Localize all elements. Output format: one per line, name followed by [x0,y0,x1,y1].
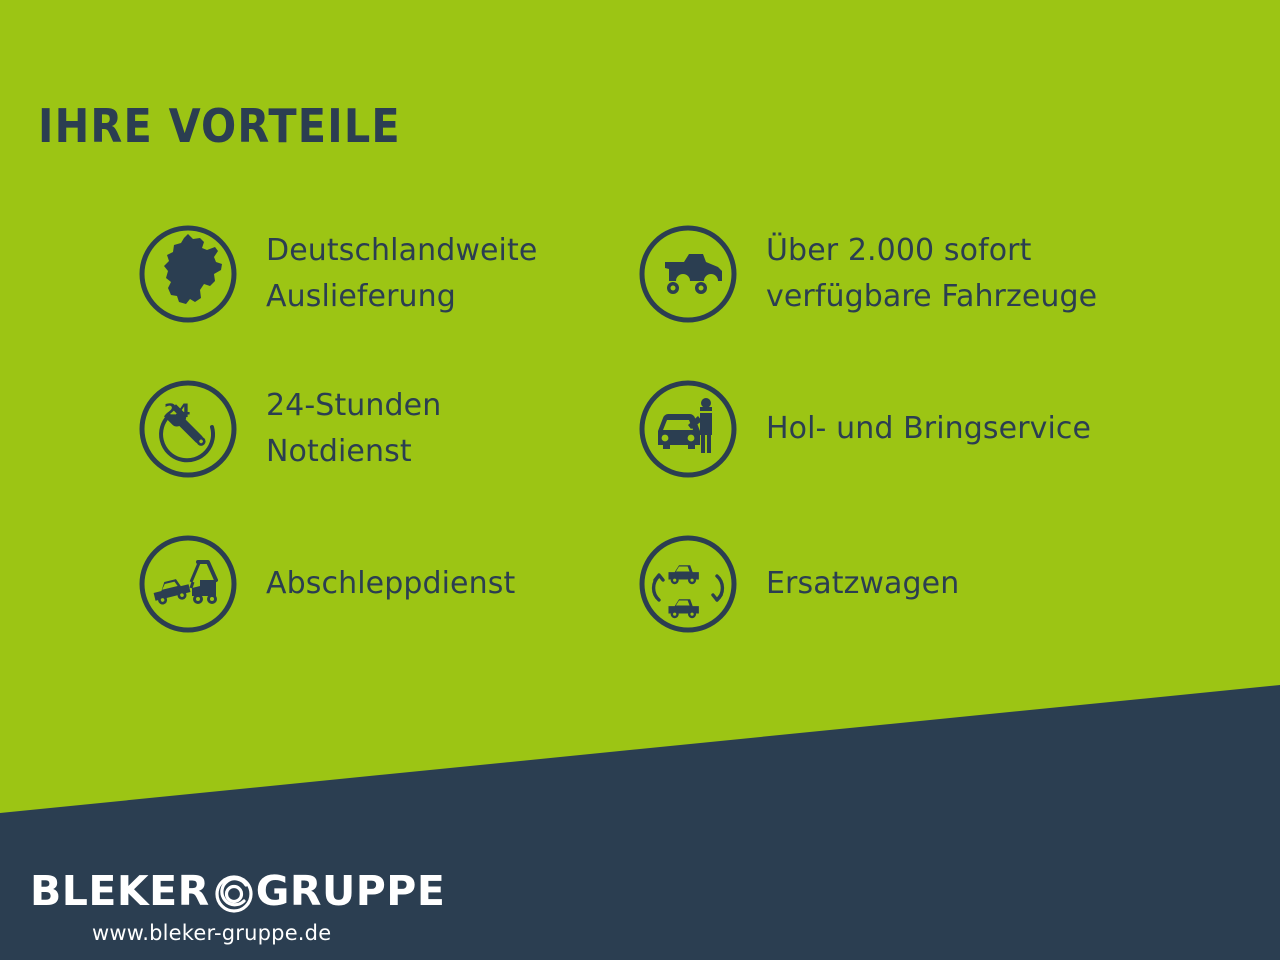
car-side-icon [636,222,740,326]
brand-logo[interactable]: BLEKER GRUPPE www.bleker-gruppe.de [30,866,370,952]
benefit-item-ersatzwagen: Ersatzwagen [636,506,1196,661]
benefit-item-verfuegbare-fahrzeuge: Über 2.000 sofort verfügbare Fahrzeuge [636,196,1196,351]
benefit-item-deutschlandweite-auslieferung: Deutschlandweite Auslieferung [136,196,636,351]
benefit-item-24-stunden-notdienst: 24 24-Stunden Notdienst [136,351,636,506]
benefit-label: Hol- und Bringservice [766,406,1091,452]
tow-truck-icon [136,532,240,636]
slide-canvas: IHRE VORTEILE Deutschlandweite Ausliefer… [0,0,1280,960]
two-cars-exchange-icon [636,532,740,636]
germany-map-icon [136,222,240,326]
logo-word-gruppe: GRUPPE [256,871,446,912]
logo-wordmark: BLEKER GRUPPE [30,866,370,916]
page-title: IHRE VORTEILE [38,103,401,149]
benefit-label: Über 2.000 sofort verfügbare Fahrzeuge [766,228,1097,319]
benefit-label: Abschleppdienst [266,561,515,607]
benefit-label: Ersatzwagen [766,561,959,607]
benefit-item-hol-und-bringservice: Hol- und Bringservice [636,351,1196,506]
spiral-circles-icon [208,865,260,917]
benefit-label: Deutschlandweite Auslieferung [266,228,537,319]
car-front-with-driver-icon [636,377,740,481]
benefit-item-abschleppdienst: Abschleppdienst [136,506,636,661]
clock-wrench-24-icon: 24 [136,377,240,481]
logo-url[interactable]: www.bleker-gruppe.de [92,923,370,944]
benefits-grid: Deutschlandweite Auslieferung Über 2.000… [0,196,1280,661]
benefit-label: 24-Stunden Notdienst [266,383,441,474]
logo-word-bleker: BLEKER [30,871,210,912]
